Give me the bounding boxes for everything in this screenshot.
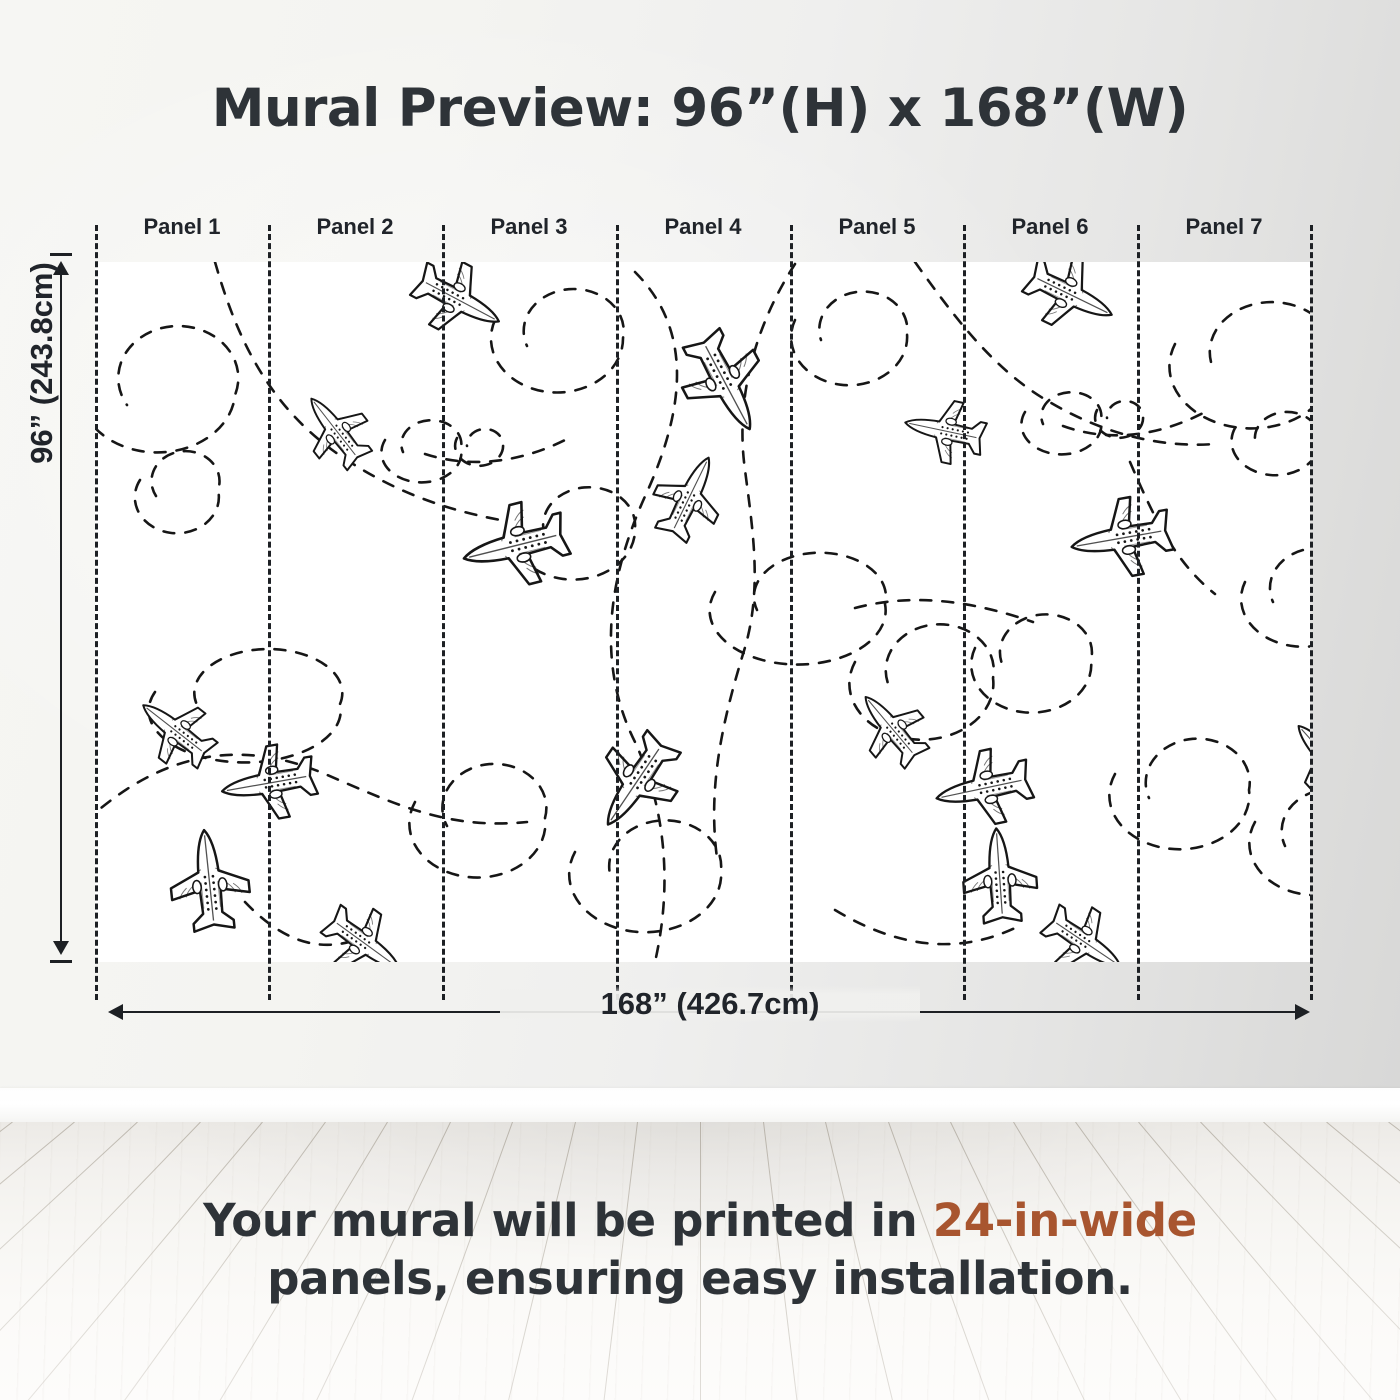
page-title: Mural Preview: 96”(H) x 168”(W) xyxy=(0,78,1400,139)
width-arrowhead-right xyxy=(1295,1004,1310,1020)
panel-divider-2 xyxy=(442,225,445,1000)
height-arrow-shaft xyxy=(60,265,62,951)
width-dimension-label: 168” (426.7cm) xyxy=(500,986,920,1022)
panel-label-5: Panel 5 xyxy=(790,214,964,240)
room-scene: Mural Preview: 96”(H) x 168”(W) xyxy=(0,0,1400,1400)
width-arrowhead-left xyxy=(108,1004,123,1020)
footer-caption: Your mural will be printed in 24-in-wide… xyxy=(0,1192,1400,1307)
caption-line2: panels, ensuring easy installation. xyxy=(267,1252,1133,1305)
mural-preview[interactable] xyxy=(95,262,1310,962)
panel-divider-4 xyxy=(790,225,793,1000)
height-arrowhead-bottom xyxy=(53,941,69,955)
panel-label-6: Panel 6 xyxy=(963,214,1137,240)
caption-highlight: 24-in-wide xyxy=(933,1194,1197,1247)
panel-divider-1 xyxy=(268,225,271,1000)
panel-divider-0 xyxy=(95,225,98,1000)
panel-label-7: Panel 7 xyxy=(1137,214,1311,240)
baseboard xyxy=(0,1088,1400,1124)
panel-divider-3 xyxy=(616,225,619,1000)
height-dimension-label: 96” (243.8cm) xyxy=(24,203,60,523)
panel-divider-5 xyxy=(963,225,966,1000)
caption-line1-before: Your mural will be printed in xyxy=(203,1194,933,1247)
panel-label-4: Panel 4 xyxy=(616,214,790,240)
mural-artwork xyxy=(95,262,1310,962)
panel-label-1: Panel 1 xyxy=(95,214,269,240)
panel-label-2: Panel 2 xyxy=(268,214,442,240)
panel-divider-6 xyxy=(1137,225,1140,1000)
height-cap-bottom xyxy=(50,960,72,963)
panel-divider-7 xyxy=(1310,225,1313,1000)
panel-label-3: Panel 3 xyxy=(442,214,616,240)
